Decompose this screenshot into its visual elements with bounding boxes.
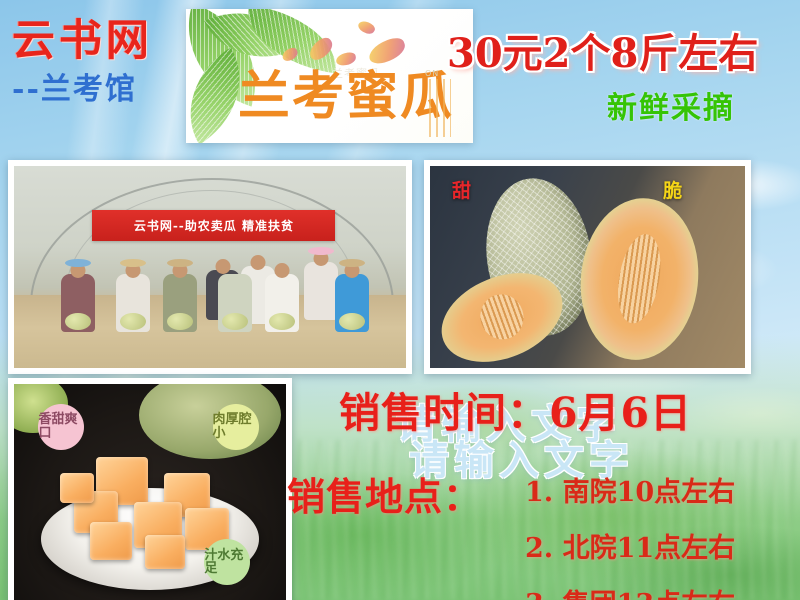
person-figure [304,262,338,320]
petal-icon [366,35,409,68]
sale-place-item: 1. 南院10点左右 [525,470,800,509]
greenhouse-group-photo: 云书网--助农卖瓜 精准扶贫 [8,160,412,374]
sale-place-item: 2. 北院11点左右 [525,526,800,565]
sale-place-list: 1. 南院10点左右 2. 北院11点左右 3. 集团13点左右 [525,470,800,600]
person-figure [61,274,95,332]
badge-thick-flesh: 肉厚腔小 [213,404,259,450]
logo-title: 兰考蜜瓜 [238,71,454,123]
sale-place-item: 3. 集团13点左右 [525,582,800,600]
badge-line: 香甜爽口 [38,413,84,440]
logo-mark: ON [425,69,439,78]
poster-canvas: 云书网 --兰考馆 兰考蜜瓜 兰考蜜瓜 ON 30元2个8斤左右 新鲜采摘 云书… [0,0,800,600]
person-figure [116,274,150,332]
melon-cubes-photo: 香甜爽口 肉厚腔小 汁水充足 [8,378,292,600]
person-figure [265,274,299,332]
logo-wave-decoration [429,79,451,137]
sale-place-label: 销售地点： [287,466,482,521]
petal-icon [356,18,376,36]
person-figure [335,274,369,332]
product-logo-card: 兰考蜜瓜 兰考蜜瓜 ON [186,9,473,143]
badge-line: 汁水充足 [204,549,250,576]
freshness-tagline: 新鲜采摘 [607,83,735,127]
cantaloupe-photo: 甜 脆 [424,160,751,374]
person-figure [218,274,252,332]
crisp-label: 脆 [663,176,682,203]
price-headline: 30元2个8斤左右 [447,21,758,79]
greenhouse-banner-text: 云书网--助农卖瓜 精准扶贫 [134,217,294,234]
person-figure [163,274,197,332]
badge-line: 肉厚腔小 [213,413,259,440]
sweet-label: 甜 [452,176,471,203]
sale-time-line: 销售时间：6月6日 [339,379,692,439]
greenhouse-banner: 云书网--助农卖瓜 精准扶贫 [92,210,335,240]
